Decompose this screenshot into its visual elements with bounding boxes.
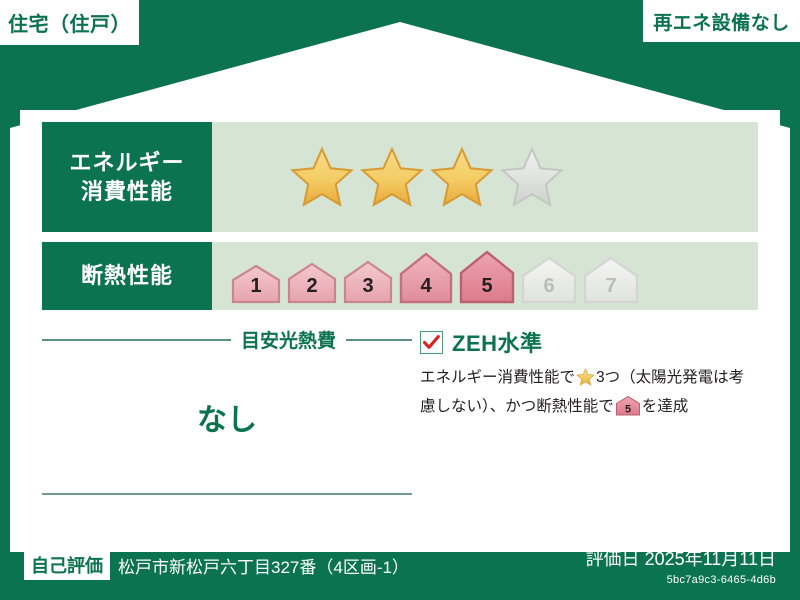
insulation-performance-label: 断熱性能	[42, 242, 212, 310]
label-id: 5bc7a9c3-6465-4d6b	[586, 574, 776, 586]
insulation-level-3: 3	[342, 258, 394, 304]
insulation-level-7-num: 7	[582, 275, 640, 298]
utility-cost-section: 目安光熱費 なし	[20, 326, 412, 495]
insulation-level-6-num: 6	[520, 275, 578, 298]
evaluation-type-chip: 自己評価	[24, 550, 110, 580]
insulation-level-7: 7	[582, 254, 640, 304]
insulation-level-1: 1	[230, 262, 282, 304]
header-subtitle: 建築物省エネ法に基づく	[0, 42, 800, 66]
insulation-performance-body: 1 2 3	[212, 242, 758, 310]
insulation-performance-row: 断熱性能 1 2	[42, 242, 758, 310]
evaluation-date-label: 評価日	[586, 549, 640, 569]
star-icon-filled-2	[360, 146, 424, 208]
zeh-desc-part1: エネルギー消費性能で	[420, 369, 575, 386]
zeh-description: エネルギー消費性能で3つ（太陽光発電は考慮しない）、かつ断熱性能で5を達成	[420, 365, 754, 424]
utility-cost-title: 目安光熱費	[241, 326, 336, 353]
insulation-performance-label-text: 断熱性能	[81, 261, 173, 290]
check-icon	[423, 335, 440, 350]
star-icon-filled-3	[430, 146, 494, 208]
energy-performance-label-line1: エネルギー	[69, 148, 184, 177]
zeh-star-count: 3つ（太陽光発電	[596, 369, 713, 386]
zeh-insulation-badge: 5	[615, 395, 641, 424]
insulation-level-5-num: 5	[458, 275, 516, 298]
insulation-level-5: 5	[458, 248, 516, 304]
zeh-title: ZEH水準	[452, 326, 543, 358]
star-icon-empty-4	[500, 146, 564, 208]
energy-performance-body	[212, 122, 758, 232]
badge-renewable-status-label: 再エネ設備なし	[653, 8, 790, 35]
star-icon-filled-1	[290, 146, 354, 208]
insulation-level-2-num: 2	[286, 275, 338, 298]
badge-building-type: 住宅（住戸）	[0, 0, 139, 45]
label-card: エネルギー 消費性能	[20, 110, 780, 530]
zeh-section: ZEH水準 エネルギー消費性能で3つ（太陽光発電は考慮しない）、かつ断熱性能で5…	[412, 326, 780, 495]
svg-text:5: 5	[625, 404, 631, 416]
zeh-desc-part3: を達成	[642, 398, 689, 415]
energy-performance-row: エネルギー 消費性能	[42, 122, 758, 232]
footer-right: 評価日 2025年11月11日 5bc7a9c3-6465-4d6b	[586, 545, 800, 586]
footer-left: 自己評価 松戸市新松戸六丁目327番（4区画-1）	[0, 550, 409, 580]
footer: 自己評価 松戸市新松戸六丁目327番（4区画-1） 評価日 2025年11月11…	[0, 530, 800, 600]
insulation-level-1-num: 1	[230, 275, 282, 298]
star-icon-inline	[576, 368, 595, 394]
evaluation-date-value: 2025年11月11日	[645, 549, 776, 569]
utility-cost-bottom-rule	[42, 493, 412, 495]
property-address: 松戸市新松戸六丁目327番（4区画-1）	[118, 553, 409, 578]
utility-cost-rule-right	[346, 339, 412, 341]
insulation-level-6: 6	[520, 254, 578, 304]
page-title: 省エネ性能ラベル	[0, 72, 800, 117]
badge-renewable-status: 再エネ設備なし	[643, 0, 800, 42]
evaluation-date: 評価日 2025年11月11日	[586, 545, 776, 571]
badge-building-type-label: 住宅（住戸）	[8, 8, 131, 37]
energy-star-rating	[212, 146, 564, 208]
insulation-level-scale: 1 2 3	[212, 242, 644, 310]
utility-cost-value: なし	[42, 395, 412, 439]
insulation-level-2: 2	[286, 260, 338, 304]
insulation-level-4: 4	[398, 250, 454, 304]
energy-performance-label: エネルギー 消費性能	[42, 122, 212, 232]
zeh-header: ZEH水準	[420, 326, 754, 358]
utility-cost-rule-left	[42, 339, 231, 341]
lower-section: 目安光熱費 なし ZEH水準 エネルギー消費性能で3つ（太陽光発電は考慮しない）…	[20, 326, 780, 495]
zeh-checkbox[interactable]	[420, 331, 443, 354]
header: 建築物省エネ法に基づく 省エネ性能ラベル	[0, 42, 800, 117]
utility-cost-title-row: 目安光熱費	[42, 326, 412, 353]
insulation-level-4-num: 4	[398, 275, 454, 298]
insulation-level-3-num: 3	[342, 275, 394, 298]
energy-performance-label-line2: 消費性能	[81, 177, 173, 206]
